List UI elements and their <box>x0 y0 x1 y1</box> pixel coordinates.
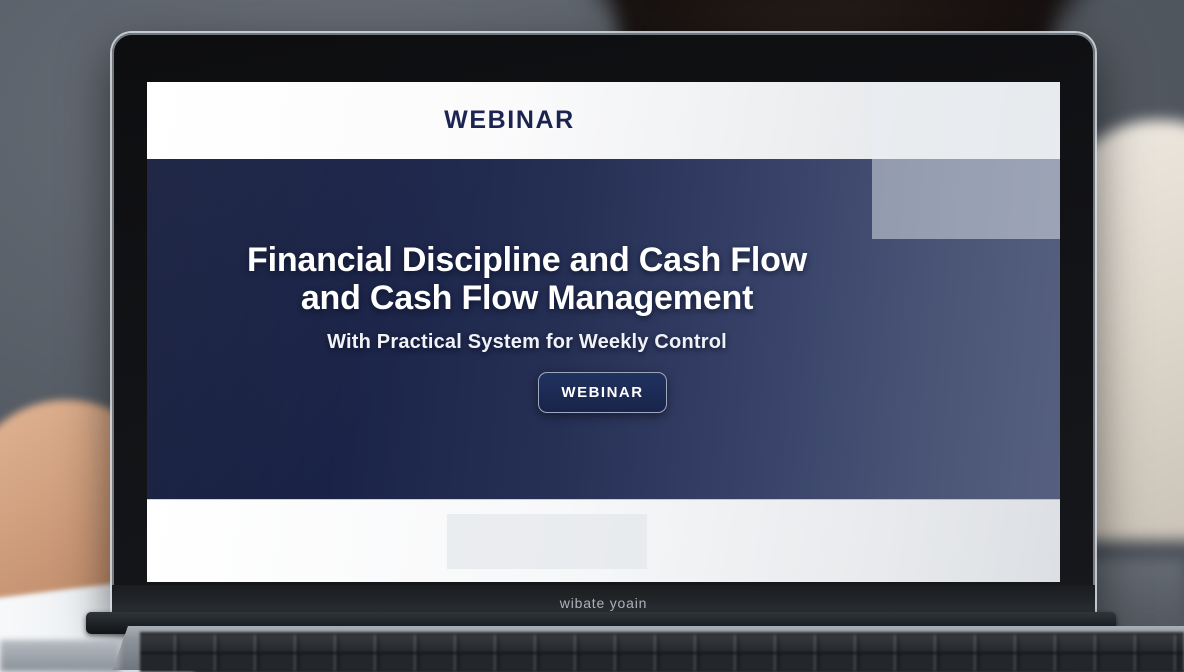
slide-footer-sheen <box>447 514 647 569</box>
photo-scene: WEBINAR Financial Discipline and Cash Fl… <box>0 0 1184 672</box>
slide-hero-content: Financial Discipline and Cash Flow and C… <box>147 159 1060 499</box>
laptop-brand-logo: wibate yoain <box>560 595 647 611</box>
slide-headline-line1: Financial Discipline and Cash Flow <box>187 241 867 279</box>
keyboard-gloss <box>140 632 1184 672</box>
slide-header-right-wash <box>872 82 1060 159</box>
slide-headline-line2: and Cash Flow Management <box>187 279 867 317</box>
laptop-keyboard[interactable] <box>140 632 1184 672</box>
slide-headline: Financial Discipline and Cash Flow and C… <box>187 241 867 317</box>
laptop-screen[interactable]: WEBINAR Financial Discipline and Cash Fl… <box>147 82 1060 582</box>
slide-header-title: WEBINAR <box>147 82 872 159</box>
slide-subheadline: With Practical System for Weekly Control <box>187 331 867 354</box>
laptop-left-edge <box>0 640 120 672</box>
webinar-cta-button[interactable]: WEBINAR <box>538 372 667 413</box>
